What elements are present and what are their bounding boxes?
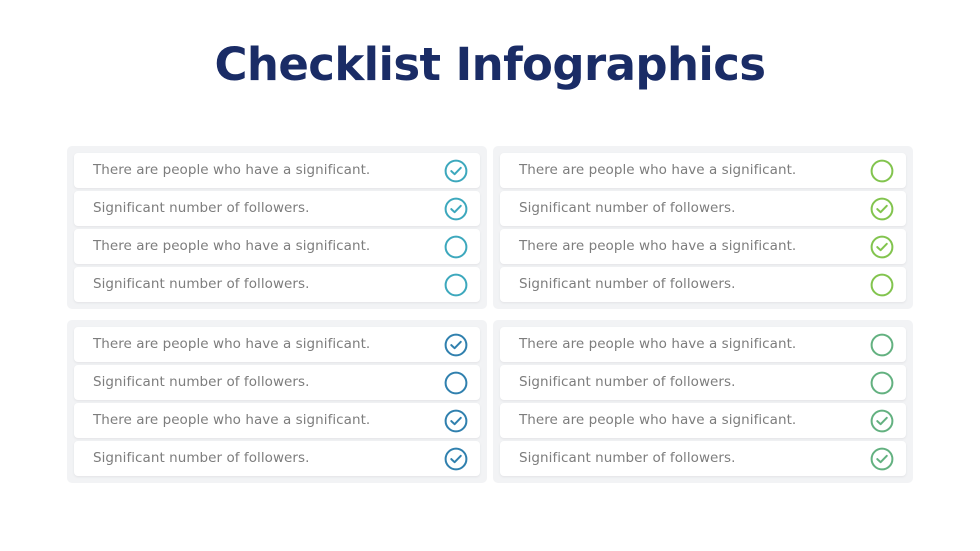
- check-circle-filled-icon[interactable]: [870, 447, 894, 471]
- circle-outline-icon[interactable]: [870, 159, 894, 183]
- checklist-row-label: Significant number of followers.: [519, 278, 735, 292]
- checklist-row[interactable]: Significant number of followers.: [500, 365, 906, 400]
- checklist-row-label: There are people who have a significant.: [519, 414, 796, 428]
- checklist-row[interactable]: Significant number of followers.: [74, 441, 480, 476]
- checklist-cards-grid: There are people who have a significant.…: [67, 146, 913, 483]
- card-bottom-left: There are people who have a significant.…: [67, 320, 487, 483]
- checklist-row-label: There are people who have a significant.: [93, 414, 370, 428]
- checklist-row[interactable]: Significant number of followers.: [500, 441, 906, 476]
- checklist-row-label: There are people who have a significant.: [93, 240, 370, 254]
- checklist-row[interactable]: Significant number of followers.: [500, 191, 906, 226]
- checklist-row-label: Significant number of followers.: [93, 376, 309, 390]
- check-circle-filled-icon[interactable]: [444, 197, 468, 221]
- card-top-left: There are people who have a significant.…: [67, 146, 487, 309]
- checklist-row-label: Significant number of followers.: [93, 278, 309, 292]
- checklist-row-label: There are people who have a significant.: [93, 164, 370, 178]
- checklist-row[interactable]: There are people who have a significant.: [500, 403, 906, 438]
- checklist-row[interactable]: Significant number of followers.: [74, 365, 480, 400]
- circle-outline-icon[interactable]: [870, 273, 894, 297]
- card-top-right: There are people who have a significant.…: [493, 146, 913, 309]
- circle-outline-icon[interactable]: [870, 371, 894, 395]
- card-bottom-right: There are people who have a significant.…: [493, 320, 913, 483]
- checklist-row[interactable]: There are people who have a significant.: [74, 153, 480, 188]
- check-circle-filled-icon[interactable]: [870, 235, 894, 259]
- check-circle-filled-icon[interactable]: [444, 159, 468, 183]
- checklist-row[interactable]: There are people who have a significant.: [74, 327, 480, 362]
- checklist-row[interactable]: Significant number of followers.: [74, 191, 480, 226]
- checklist-row[interactable]: There are people who have a significant.: [74, 229, 480, 264]
- checklist-row-label: There are people who have a significant.: [93, 338, 370, 352]
- page-title: Checklist Infographics: [0, 38, 980, 91]
- check-circle-filled-icon[interactable]: [444, 333, 468, 357]
- circle-outline-icon[interactable]: [444, 371, 468, 395]
- checklist-row[interactable]: Significant number of followers.: [74, 267, 480, 302]
- checklist-row-label: Significant number of followers.: [519, 452, 735, 466]
- check-circle-filled-icon[interactable]: [870, 197, 894, 221]
- checklist-row[interactable]: There are people who have a significant.: [500, 153, 906, 188]
- checklist-row[interactable]: There are people who have a significant.: [74, 403, 480, 438]
- checklist-row-label: Significant number of followers.: [93, 202, 309, 216]
- circle-outline-icon[interactable]: [444, 235, 468, 259]
- checklist-row-label: Significant number of followers.: [93, 452, 309, 466]
- circle-outline-icon[interactable]: [870, 333, 894, 357]
- checklist-row[interactable]: Significant number of followers.: [500, 267, 906, 302]
- check-circle-filled-icon[interactable]: [444, 447, 468, 471]
- checklist-row-label: There are people who have a significant.: [519, 338, 796, 352]
- circle-outline-icon[interactable]: [444, 273, 468, 297]
- checklist-row[interactable]: There are people who have a significant.: [500, 327, 906, 362]
- checklist-row-label: There are people who have a significant.: [519, 240, 796, 254]
- checklist-row-label: There are people who have a significant.: [519, 164, 796, 178]
- checklist-row-label: Significant number of followers.: [519, 202, 735, 216]
- checklist-row-label: Significant number of followers.: [519, 376, 735, 390]
- check-circle-filled-icon[interactable]: [870, 409, 894, 433]
- check-circle-filled-icon[interactable]: [444, 409, 468, 433]
- slide-canvas: Checklist Infographics There are people …: [0, 0, 980, 551]
- checklist-row[interactable]: There are people who have a significant.: [500, 229, 906, 264]
